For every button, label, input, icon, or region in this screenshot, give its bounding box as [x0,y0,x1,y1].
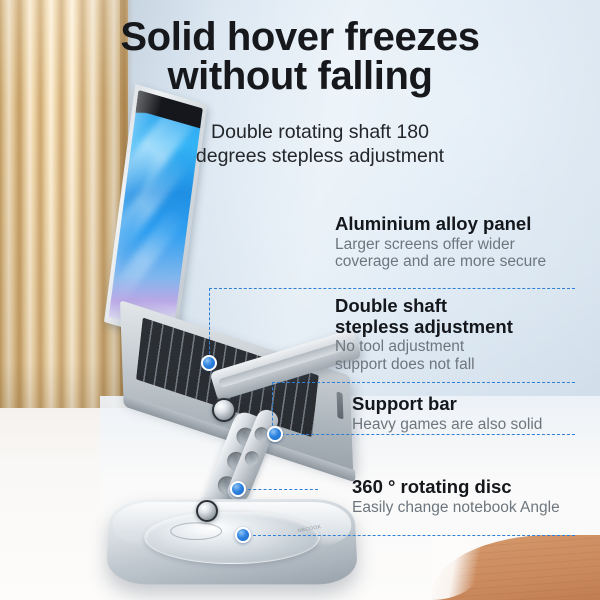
callout-sub-line-1: No tool adjustment [335,338,464,355]
callout-sub-line-1: Easily change notebook Angle [352,499,560,516]
rotating-disc-ring [170,522,222,540]
callout-title-line-2: stepless adjustment [335,317,513,338]
product-marketing-image: NBCOOK Solid hover freezes without falli… [0,0,600,600]
callout-sub-line-1: Heavy games are also solid [352,416,542,433]
rotating-disc [143,511,321,564]
callout-rotating-disc: 360 ° rotating disc Easily change notebo… [352,477,560,516]
callout-subtitle: Larger screens offer wider coverage and … [335,236,546,271]
headline: Solid hover freezes without falling [0,18,600,96]
callout-line-aluminium-horizontal [209,288,575,289]
callout-sub-line-1: Larger screens offer wider [335,236,515,253]
callout-title-line-1: Aluminium alloy panel [335,213,531,234]
callout-double-shaft-stepless-adjustment: Double shaft stepless adjustment No tool… [335,296,513,374]
stand-pivot-joint-lower [196,500,218,522]
stand-pivot-joint-upper [212,398,236,422]
callout-title-line-1: Support bar [352,393,457,414]
callout-sub-line-2: support does not fall [335,356,513,374]
callout-title: Support bar [352,394,542,415]
callout-sub-line-2: coverage and are more secure [335,253,546,271]
callout-title: 360 ° rotating disc [352,477,560,498]
callout-marker-aluminium[interactable] [201,355,217,371]
callout-line-disc-horizontal [243,535,575,536]
stand-base-plate: NBCOOK [106,499,359,584]
callout-title-line-1: 360 ° rotating disc [352,476,512,497]
callout-marker-support-bar[interactable] [230,481,246,497]
callout-subtitle: Heavy games are also solid [352,416,542,434]
callout-aluminium-alloy-panel: Aluminium alloy panel Larger screens off… [335,214,546,271]
headline-line-1: Solid hover freezes [120,15,479,59]
callout-title-line-1: Double shaft [335,295,447,316]
callout-title: Aluminium alloy panel [335,214,546,235]
callout-line-aluminium-vertical [209,288,210,364]
callout-marker-double-shaft[interactable] [267,426,283,442]
subheadline: Double rotating shaft 180 degrees steple… [150,121,490,169]
callout-line-doubleshaft-horizontal [272,382,575,383]
callout-marker-rotating-disc[interactable] [235,527,251,543]
callout-support-bar: Support bar Heavy games are also solid [352,394,542,433]
subheadline-line-1: Double rotating shaft 180 [211,121,429,143]
laptop-port [337,391,344,419]
headline-line-2: without falling [0,57,600,96]
callout-subtitle: Easily change notebook Angle [352,499,560,517]
callout-line-supportbar-horizontal [276,434,575,435]
callout-line-midjoint-horizontal [243,489,318,490]
stand-arm-hole [243,449,261,467]
callout-subtitle: No tool adjustment support does not fall [335,338,513,373]
callout-title: Double shaft stepless adjustment [335,296,513,337]
subheadline-line-2: degrees stepless adjustment [150,145,490,169]
